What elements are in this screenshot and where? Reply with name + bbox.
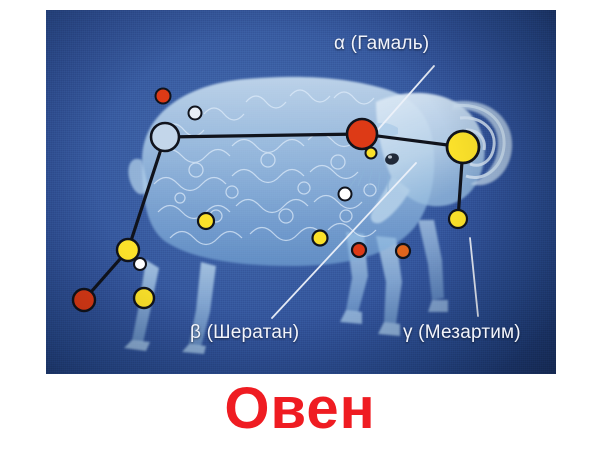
star-red-sw <box>73 289 95 311</box>
star-white-sw <box>134 258 146 270</box>
star-mesarthim <box>447 131 479 163</box>
constellation-name-caption: Овен <box>0 378 600 440</box>
star-white-nw <box>189 107 202 120</box>
screenshot-root: α (Гамаль) β (Шератан) γ (Мезартим) Овен <box>0 0 600 450</box>
star-yellow-south <box>134 288 154 308</box>
star-sheratan <box>151 123 179 151</box>
star-hamal-minor <box>366 148 377 159</box>
star-red-nw <box>156 89 171 104</box>
constellation-plate-svg <box>46 10 556 374</box>
star-white-mid <box>339 188 352 201</box>
star-label-alpha: α (Гамаль) <box>334 33 429 55</box>
star-yellow-belly <box>198 213 214 229</box>
star-orange-leg <box>396 244 410 258</box>
star-label-gamma: γ (Мезартим) <box>403 322 521 344</box>
star-red-leg <box>352 243 366 257</box>
star-hamal <box>347 119 377 149</box>
star-yellow-mid <box>313 231 328 246</box>
star-yellow-east <box>449 210 467 228</box>
star-label-beta: β (Шератан) <box>190 322 299 344</box>
star-yellow-sw <box>117 239 139 261</box>
leader-gamma <box>470 238 478 316</box>
constellation-photo <box>46 10 556 374</box>
